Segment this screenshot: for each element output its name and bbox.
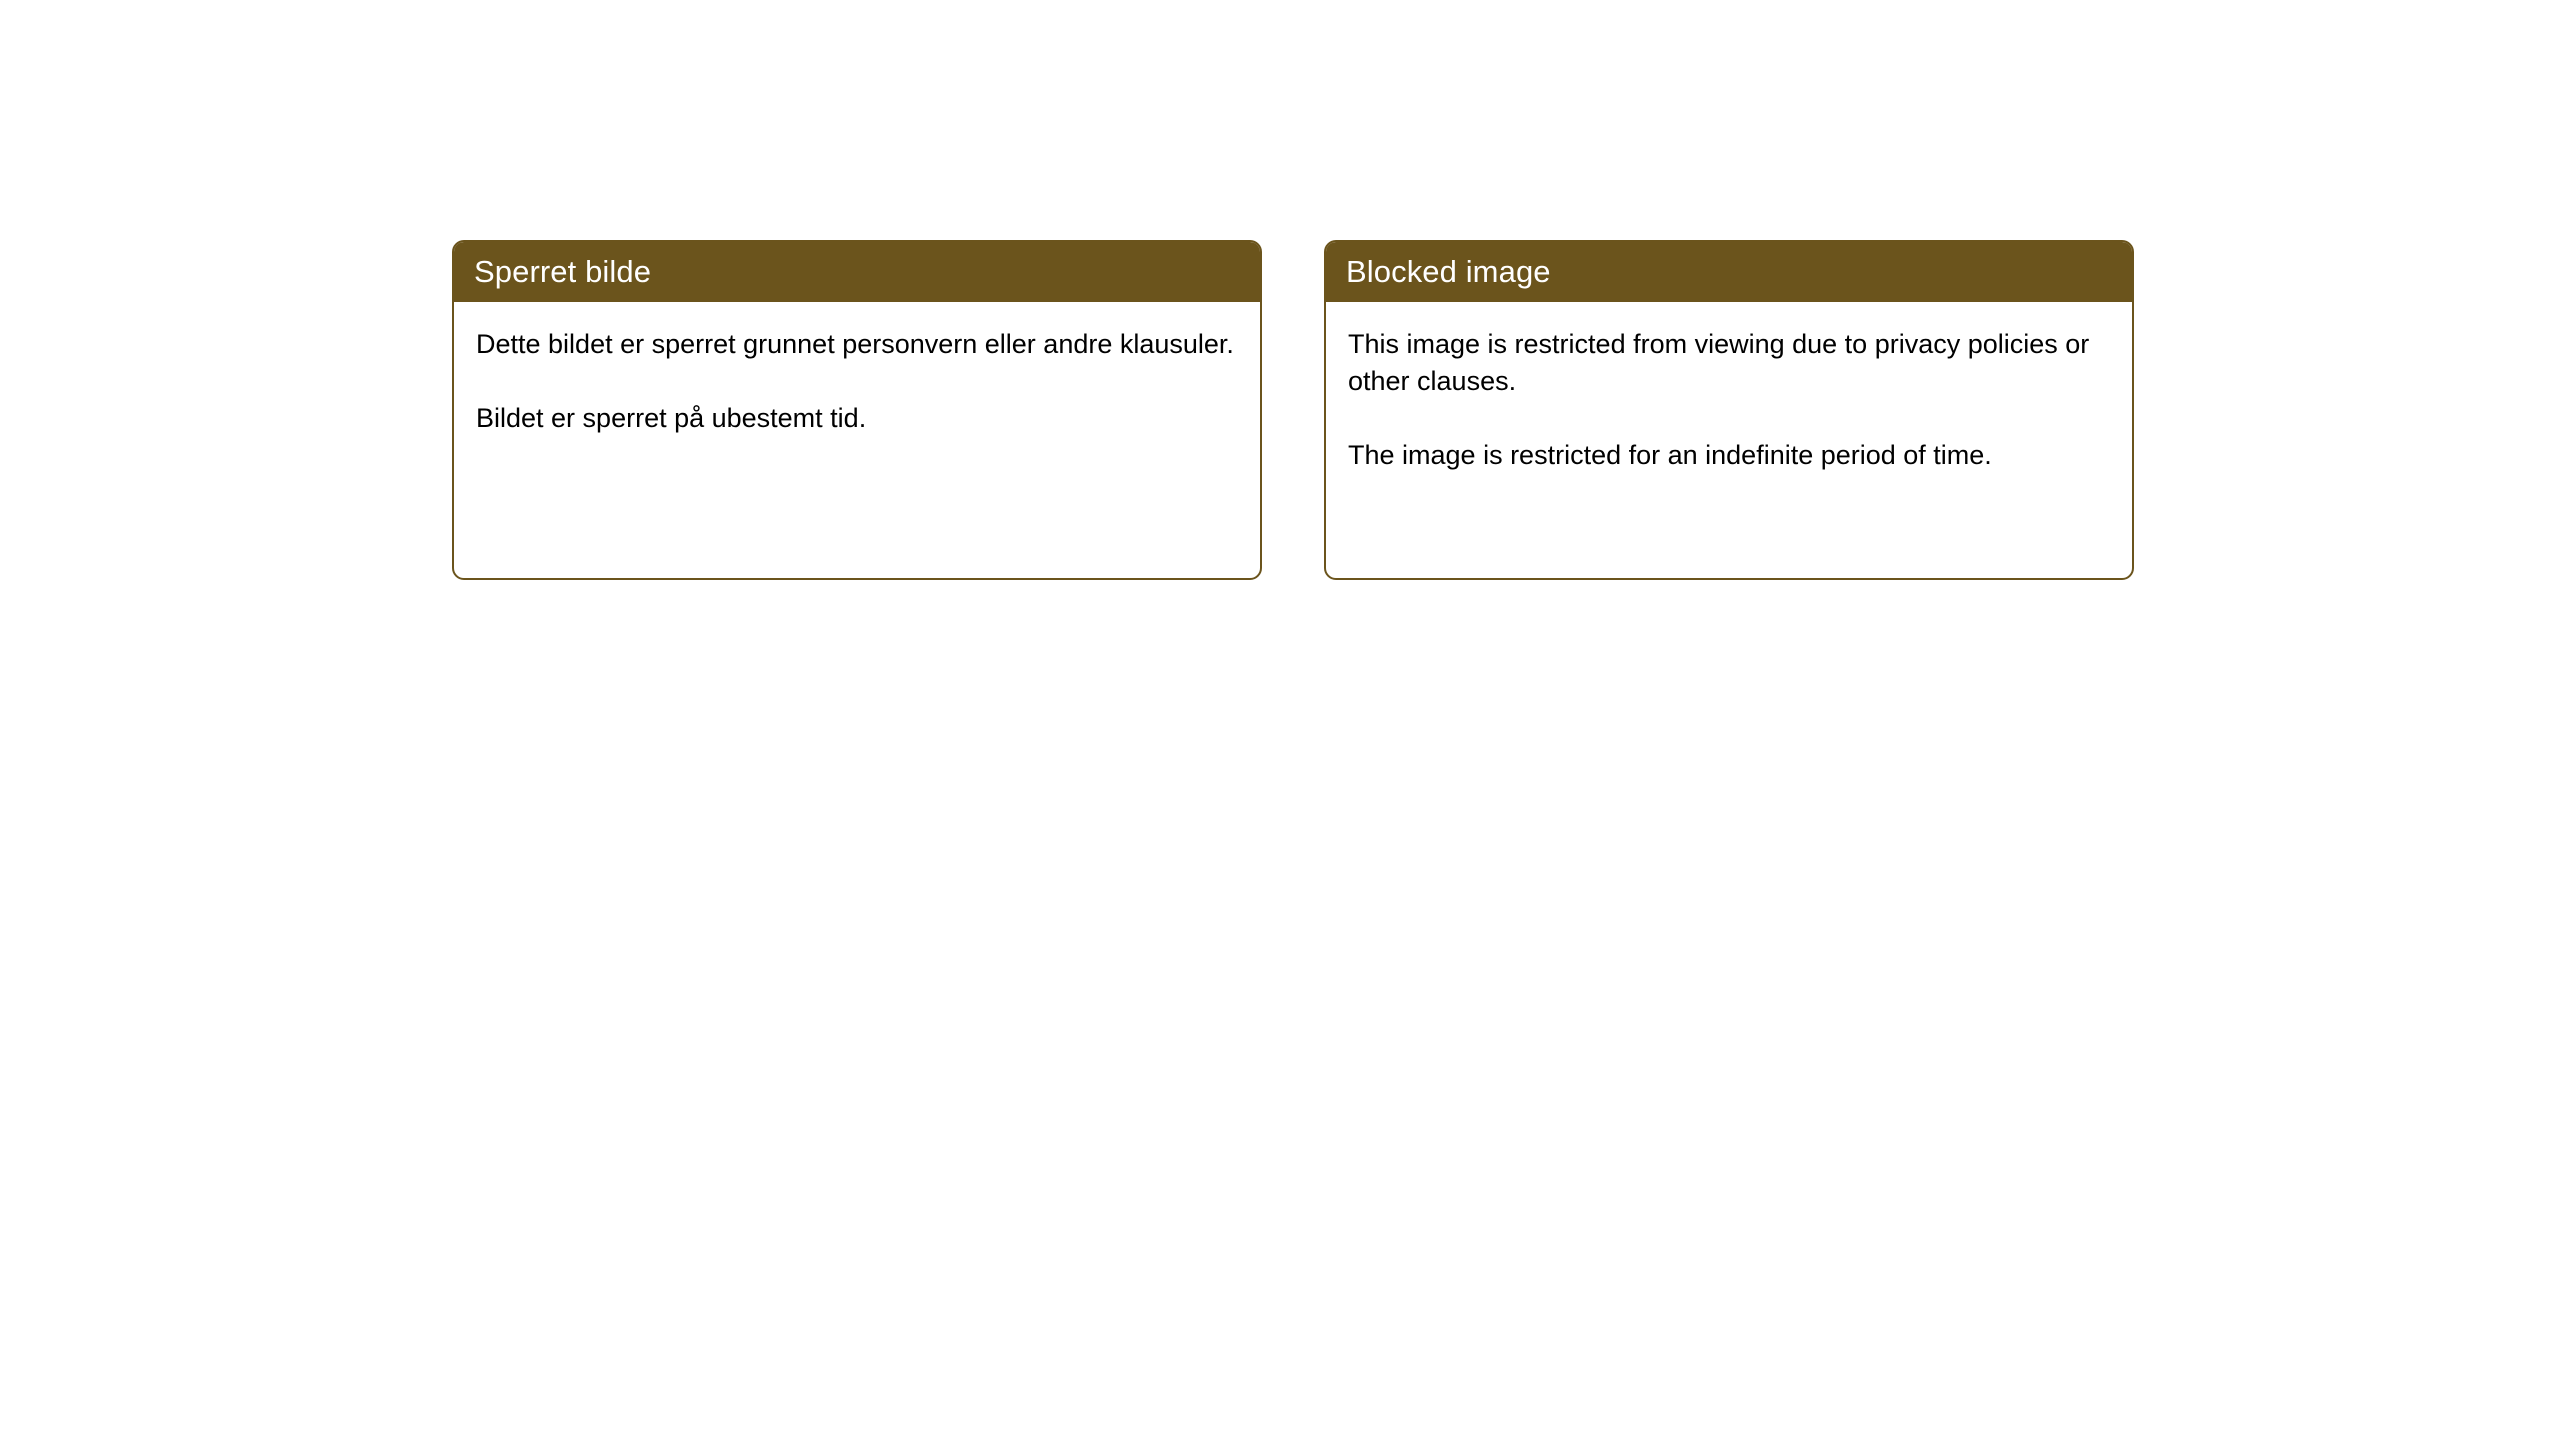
panel-body-norwegian: Dette bildet er sperret grunnet personve…	[454, 302, 1260, 578]
blocked-image-notice-english: Blocked image This image is restricted f…	[1324, 240, 2134, 580]
notice-paragraph-reason-norwegian: Dette bildet er sperret grunnet personve…	[476, 326, 1236, 363]
notice-paragraph-duration-norwegian: Bildet er sperret på ubestemt tid.	[476, 400, 1236, 437]
blocked-image-notice-norwegian: Sperret bilde Dette bildet er sperret gr…	[452, 240, 1262, 580]
notice-paragraph-reason-english: This image is restricted from viewing du…	[1348, 326, 2108, 400]
panel-header-norwegian: Sperret bilde	[452, 240, 1262, 302]
panel-header-english: Blocked image	[1324, 240, 2134, 302]
panel-title-english: Blocked image	[1346, 256, 1551, 287]
blocked-image-notice-group: Sperret bilde Dette bildet er sperret gr…	[452, 240, 2134, 580]
notice-paragraph-duration-english: The image is restricted for an indefinit…	[1348, 437, 2108, 474]
panel-title-norwegian: Sperret bilde	[474, 256, 651, 287]
panel-body-english: This image is restricted from viewing du…	[1326, 302, 2132, 578]
